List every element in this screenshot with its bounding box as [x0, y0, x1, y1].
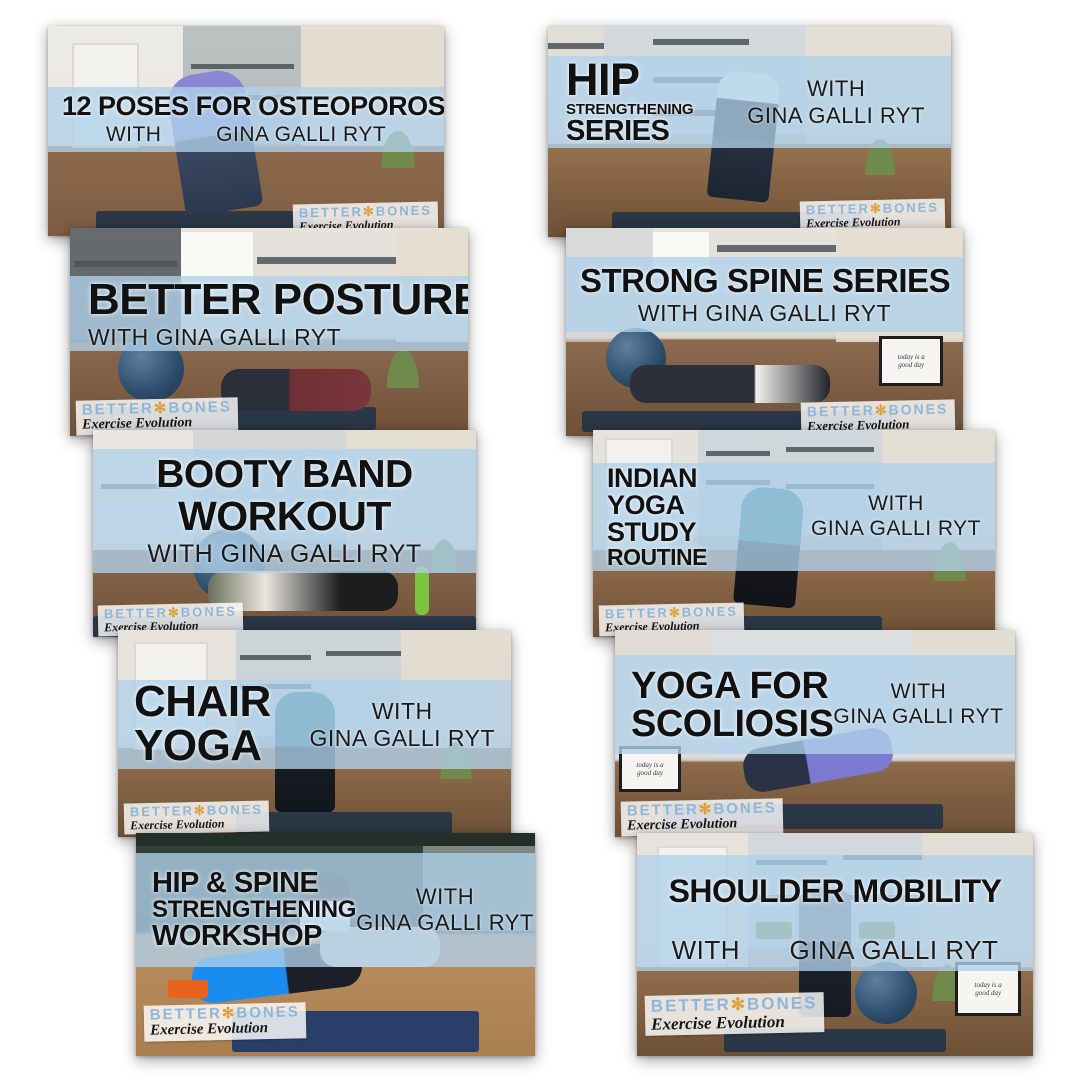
card-title-line-1: INDIAN	[607, 465, 707, 492]
card-shoulder-mobility[interactable]: today is agood day SHOULDER MOBILITY WIT…	[637, 833, 1033, 1056]
logo-tagline: Exercise Evolution	[150, 1020, 300, 1038]
with-label: WITH	[747, 77, 925, 100]
with-label: WITH	[106, 123, 162, 146]
card-title-line-3: STUDY	[607, 519, 707, 546]
card-title: SHOULDER MOBILITY	[651, 875, 1019, 907]
title-band: BOOTY BAND WORKOUT WITH GINA GALLI RYT	[93, 449, 476, 573]
card-title-line-2: YOGA	[607, 492, 707, 519]
title-band: BETTER POSTURE WITH GINA GALLI RYT	[70, 276, 468, 351]
better-bones-logo: BETTER✻BONES Exercise Evolution	[144, 1002, 307, 1041]
card-yoga-for-scoliosis[interactable]: today is agood day YOGA FOR SCOLIOSIS WI…	[615, 630, 1015, 837]
card-credit: WITH GINA GALLI RYT	[62, 124, 430, 146]
card-title-line-2: YOGA	[134, 724, 271, 768]
title-band: HIP STRENGTHENING SERIES WITH GINA GALLI…	[548, 56, 951, 149]
card-hip-strengthening-series[interactable]: HIP STRENGTHENING SERIES WITH GINA GALLI…	[548, 26, 951, 237]
instructor-name: GINA GALLI RYT	[216, 123, 386, 146]
title-band: SHOULDER MOBILITY WITH GINA GALLI RYT	[637, 855, 1033, 971]
card-better-posture[interactable]: BETTER POSTURE WITH GINA GALLI RYT BETTE…	[70, 228, 468, 436]
logo-brand: BETTER✻BONES	[651, 994, 818, 1014]
instructor-name: GINA GALLI RYT	[356, 911, 534, 934]
card-title-line-3: SERIES	[566, 117, 693, 146]
logo-brand: BETTER✻BONES	[627, 800, 777, 818]
title-band: STRONG SPINE SERIES WITH GINA GALLI RYT	[566, 257, 963, 332]
wall-sign: today is agood day	[879, 336, 943, 386]
card-credit: WITH GINA GALLI RYT	[580, 301, 949, 325]
instructor-name: GINA GALLI RYT	[309, 726, 495, 750]
title-band: INDIAN YOGA STUDY ROUTINE WITH GINA GALL…	[593, 463, 995, 571]
with-label: WITH	[833, 681, 1003, 703]
card-title-line-4: ROUTINE	[607, 546, 707, 569]
card-title-line-1: HIP	[566, 57, 693, 102]
better-bones-logo: BETTER✻BONES Exercise Evolution	[621, 798, 784, 836]
card-indian-yoga-study-routine[interactable]: INDIAN YOGA STUDY ROUTINE WITH GINA GALL…	[593, 430, 995, 637]
card-title-line-2: SCOLIOSIS	[631, 705, 833, 743]
card-title: STRONG SPINE SERIES	[580, 264, 949, 297]
better-bones-logo: BETTER✻BONES Exercise Evolution	[645, 992, 825, 1036]
instructor-name: GINA GALLI RYT	[747, 104, 925, 127]
with-label: WITH	[811, 493, 981, 515]
card-credit: WITH GINA GALLI RYT	[107, 541, 462, 567]
card-title-line-2: WORKOUT	[107, 496, 462, 537]
card-title-line-1: BOOTY BAND	[107, 455, 462, 494]
better-bones-logo: BETTER✻BONES Exercise Evolution	[124, 800, 270, 834]
logo-brand: BETTER✻BONES	[82, 399, 232, 417]
card-12-poses-for-osteoporosis[interactable]: 12 POSES FOR OSTEOPOROSIS WITH GINA GALL…	[48, 26, 444, 236]
thumbnail-collage: 12 POSES FOR OSTEOPOROSIS WITH GINA GALL…	[0, 0, 1080, 1080]
card-credit: WITH GINA GALLI RYT	[88, 325, 454, 349]
with-label: WITH	[356, 885, 534, 908]
card-title-line-3: WORKSHOP	[152, 922, 356, 951]
instructor-name: GINA GALLI RYT	[790, 935, 999, 965]
card-booty-band-workout[interactable]: BOOTY BAND WORKOUT WITH GINA GALLI RYT B…	[93, 430, 476, 637]
title-band: CHAIR YOGA WITH GINA GALLI RYT	[118, 680, 511, 769]
card-chair-yoga[interactable]: CHAIR YOGA WITH GINA GALLI RYT BETTER✻BO…	[118, 630, 511, 837]
title-band: HIP & SPINE STRENGTHENING WORKSHOP WITH …	[136, 853, 535, 967]
card-credit: WITH GINA GALLI RYT	[651, 937, 1019, 964]
logo-tagline: Exercise Evolution	[130, 817, 263, 832]
card-title-line-2: STRENGTHENING	[152, 898, 356, 922]
with-label: WITH	[309, 699, 495, 723]
title-band: 12 POSES FOR OSTEOPOROSIS WITH GINA GALL…	[48, 87, 444, 152]
card-title-line-1: CHAIR	[134, 680, 271, 724]
card-title: 12 POSES FOR OSTEOPOROSIS	[62, 93, 430, 120]
logo-tagline: Exercise Evolution	[627, 816, 777, 833]
card-strong-spine-series[interactable]: today is agood day STRONG SPINE SERIES W…	[566, 228, 963, 436]
instructor-name: GINA GALLI RYT	[833, 706, 1003, 728]
instructor-name: GINA GALLI RYT	[811, 518, 981, 540]
logo-brand: BETTER✻BONES	[807, 402, 949, 419]
card-title-line-1: YOGA FOR	[631, 667, 833, 705]
title-band: YOGA FOR SCOLIOSIS WITH GINA GALLI RYT	[615, 655, 1015, 754]
card-title-line-1: HIP & SPINE	[152, 869, 356, 898]
logo-tagline: Exercise Evolution	[651, 1012, 818, 1032]
card-hip-and-spine-strengthening-workshop[interactable]: HIP & SPINE STRENGTHENING WORKSHOP WITH …	[136, 833, 535, 1056]
card-title: BETTER POSTURE	[88, 278, 454, 322]
with-label: WITH	[672, 935, 740, 965]
logo-brand: BETTER✻BONES	[150, 1004, 300, 1022]
